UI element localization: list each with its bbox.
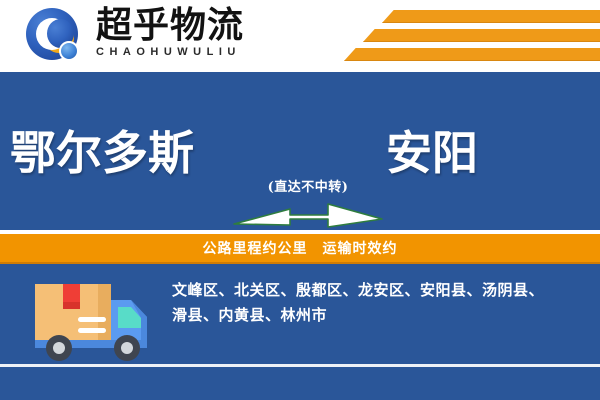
speed-stripe-3 (344, 48, 600, 61)
distance-duration-text: 公路里程约公里 运输时效约 (203, 238, 398, 258)
direct-route-note: (直达不中转) (232, 180, 384, 196)
coverage-line-1: 文峰区、北关区、殷都区、龙安区、安阳县、汤阴县、 (172, 278, 588, 303)
poster-header: 超乎物流 CHAOHUWULIU (0, 0, 600, 70)
ground-divider-line (0, 364, 600, 367)
company-logo-icon (26, 8, 88, 64)
logistics-route-poster: 超乎物流 CHAOHUWULIU 鄂尔多斯 (直达不中转) 【往返运输】 安阳 … (0, 0, 600, 400)
brand-pinyin: CHAOHUWULIU (96, 46, 276, 59)
delivery-truck-icon (32, 274, 172, 366)
brand-name: 超乎物流 (96, 6, 276, 44)
brand-block: 超乎物流 CHAOHUWULIU (96, 6, 276, 59)
distance-duration-bar: 公路里程约公里 运输时效约 (0, 234, 600, 264)
coverage-line-2: 滑县、内黄县、林州市 (172, 303, 588, 328)
coverage-panel: 文峰区、北关区、殷都区、龙安区、安阳县、汤阴县、 滑县、内黄县、林州市 (0, 264, 600, 400)
double-headed-arrow-icon (232, 200, 384, 230)
speed-stripe-1 (382, 10, 600, 23)
destination-city-label: 安阳 (386, 128, 478, 178)
route-panel: 鄂尔多斯 (直达不中转) 【往返运输】 安阳 (0, 72, 600, 230)
coverage-district-list: 文峰区、北关区、殷都区、龙安区、安阳县、汤阴县、 滑县、内黄县、林州市 (172, 278, 588, 328)
speed-stripes-icon (330, 8, 600, 63)
origin-city-label: 鄂尔多斯 (10, 128, 194, 178)
speed-stripe-2 (363, 29, 600, 42)
logo-dot-shape (59, 41, 79, 61)
